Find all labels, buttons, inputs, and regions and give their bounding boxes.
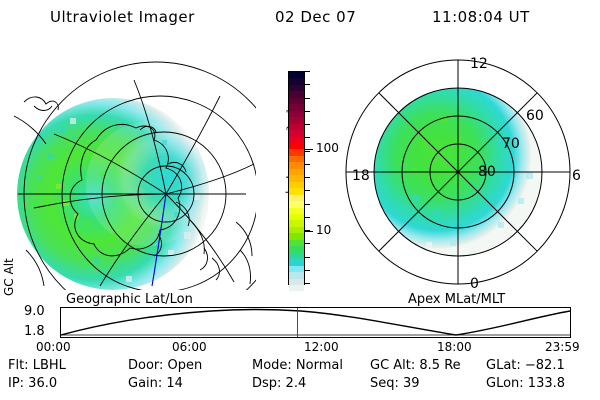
y-tick-high: 9.0 (24, 304, 45, 319)
mlt-panel[interactable]: 12 18 6 0 60 70 80 (330, 44, 588, 294)
mlt-label-12: 12 (470, 56, 488, 72)
colorbar-tick (305, 257, 310, 258)
colorbar: photon cm⁻²s⁻¹ 10010 (262, 60, 324, 295)
x-tick-labels: 00:0006:0012:0018:0023:59 (0, 340, 600, 354)
colorbar-tick (305, 111, 310, 112)
status-row-1: Flt: LBHLDoor: OpenMode: NormalGC Alt: 8… (0, 358, 600, 375)
colorbar-major-tick (305, 231, 313, 232)
uvi-display: Ultraviolet Imager 02 Dec 07 11:08:04 UT (0, 0, 600, 400)
strip-plot-box[interactable] (60, 307, 571, 338)
altitude-curve (61, 308, 570, 337)
strip-title-left: Geographic Lat/Lon (66, 292, 193, 307)
geographic-plot (8, 44, 256, 290)
colorbar-tick (305, 71, 310, 72)
colorbar-label-10: 10 (316, 225, 331, 235)
colorbar-tick (305, 190, 310, 191)
status-item: Mode: Normal (252, 358, 343, 373)
strip-title-right: Apex MLat/MLT (408, 292, 505, 307)
status-block: Flt: LBHLDoor: OpenMode: NormalGC Alt: 8… (0, 358, 600, 398)
date-label: 02 Dec 07 (275, 8, 356, 26)
colorbar-tick (305, 84, 310, 85)
time-label: 11:08:04 UT (432, 8, 530, 26)
mlt-label-18: 18 (352, 168, 370, 184)
status-item: GC Alt: 8.5 Re (370, 358, 461, 373)
gc-alt-axis-label: GC Alt (2, 280, 16, 296)
colorbar-box (288, 71, 305, 285)
mlat-label-80: 80 (478, 164, 496, 180)
status-item: Flt: LBHL (8, 358, 66, 373)
colorbar-major-tick (305, 149, 313, 150)
altitude-timeline[interactable]: Geographic Lat/Lon Apex MLat/MLT GC Alt … (0, 292, 600, 348)
colorbar-tick (305, 177, 310, 178)
status-item: GLat: −82.1 (486, 358, 565, 373)
colorbar-tick (305, 151, 310, 152)
status-row-2: IP: 36.0Gain: 14Dsp: 2.4Seq: 39GLon: 133… (0, 376, 600, 393)
current-time-marker (297, 308, 299, 337)
mlt-label-0: 0 (470, 276, 479, 292)
x-tick-2: 12:00 (304, 340, 339, 354)
mlat-label-60: 60 (526, 108, 544, 124)
colorbar-tick (305, 98, 310, 99)
gc-alt-axis-text: GC Alt (2, 280, 16, 296)
colorbar-tick (305, 164, 310, 165)
x-tick-1: 06:00 (172, 340, 207, 354)
mlt-plot: 12 18 6 0 60 70 80 (330, 44, 588, 294)
status-item: IP: 36.0 (8, 376, 57, 391)
colorbar-tick (305, 217, 310, 218)
x-tick-3: 18:00 (437, 340, 472, 354)
x-tick-0: 00:00 (36, 340, 71, 354)
colorbar-ticks: 10010 (305, 71, 325, 284)
colorbar-tick (305, 124, 310, 125)
colorbar-tick (305, 137, 310, 138)
page-title: Ultraviolet Imager (50, 8, 195, 26)
colorbar-tick (305, 270, 310, 271)
mlt-grid (346, 60, 570, 284)
status-item: Gain: 14 (128, 376, 183, 391)
colorbar-tick (305, 283, 310, 284)
colorbar-gradient (289, 72, 304, 284)
status-item: Dsp: 2.4 (252, 376, 306, 391)
mlt-label-6: 6 (572, 168, 581, 184)
y-tick-low: 1.8 (24, 324, 45, 339)
x-tick-4: 23:59 (545, 340, 580, 354)
colorbar-tick (305, 204, 310, 205)
status-item: Door: Open (128, 358, 202, 373)
header: Ultraviolet Imager 02 Dec 07 11:08:04 UT (0, 8, 600, 32)
colorbar-tick (305, 243, 310, 244)
mlat-label-70: 70 (502, 136, 520, 152)
status-item: Seq: 39 (370, 376, 420, 391)
status-item: GLon: 133.8 (486, 376, 565, 391)
geographic-panel[interactable] (8, 44, 256, 290)
